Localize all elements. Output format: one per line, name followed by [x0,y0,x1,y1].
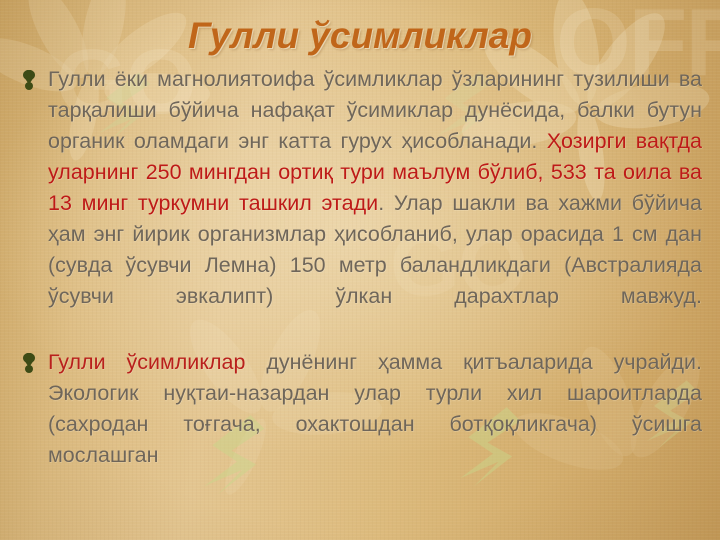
bullet-paragraph: Гулли ўсимликлар дунёнинг ҳамма қитъалар… [18,347,702,502]
diamond-bullet-icon [22,353,36,373]
slide-title: Гулли ўсимликлар [0,14,720,58]
bullet-paragraph: Гулли ёки магнолиятоифа ўсимликлар ўзлар… [18,64,702,343]
diamond-bullet-icon [22,70,36,90]
paragraph-run-highlight: Гулли ўсимликлар [48,350,245,374]
slide-body: Гулли ёки магнолиятоифа ўсимликлар ўзлар… [18,64,702,506]
presentation-slide: GO OFF GO Гулли ў [0,0,720,540]
